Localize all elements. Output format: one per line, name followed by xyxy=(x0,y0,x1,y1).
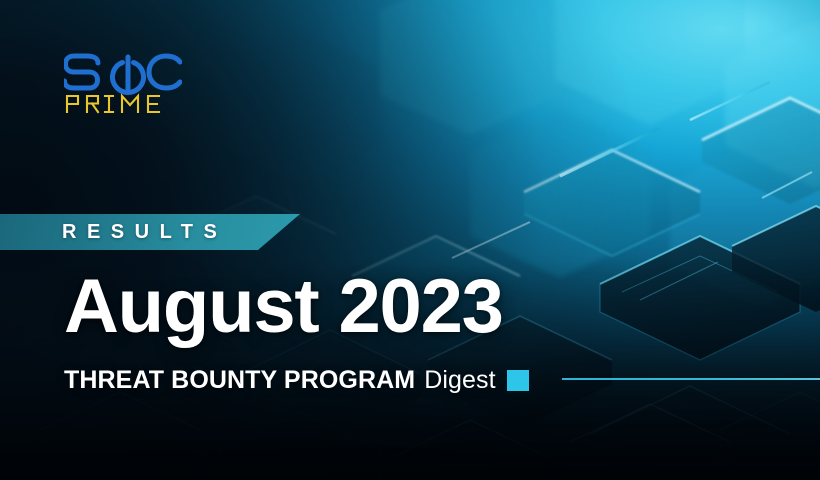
logo-letter-s xyxy=(65,56,99,88)
page-title: August 2023 xyxy=(64,269,503,345)
results-label: RESULTS xyxy=(62,214,227,250)
subtitle-program-name: THREAT BOUNTY PROGRAM xyxy=(64,366,415,395)
subtitle-digest-word: Digest xyxy=(424,366,495,395)
logo-wordmark-prime xyxy=(67,96,159,112)
promo-banner: RESULTS August 2023 THREAT BOUNTY PROGRA… xyxy=(0,0,820,480)
logo-letter-c xyxy=(149,56,180,88)
subtitle: THREAT BOUNTY PROGRAM Digest xyxy=(64,365,529,395)
soc-prime-logo[interactable] xyxy=(64,52,182,116)
accent-square-icon xyxy=(507,370,529,391)
accent-rule-line xyxy=(562,378,820,380)
